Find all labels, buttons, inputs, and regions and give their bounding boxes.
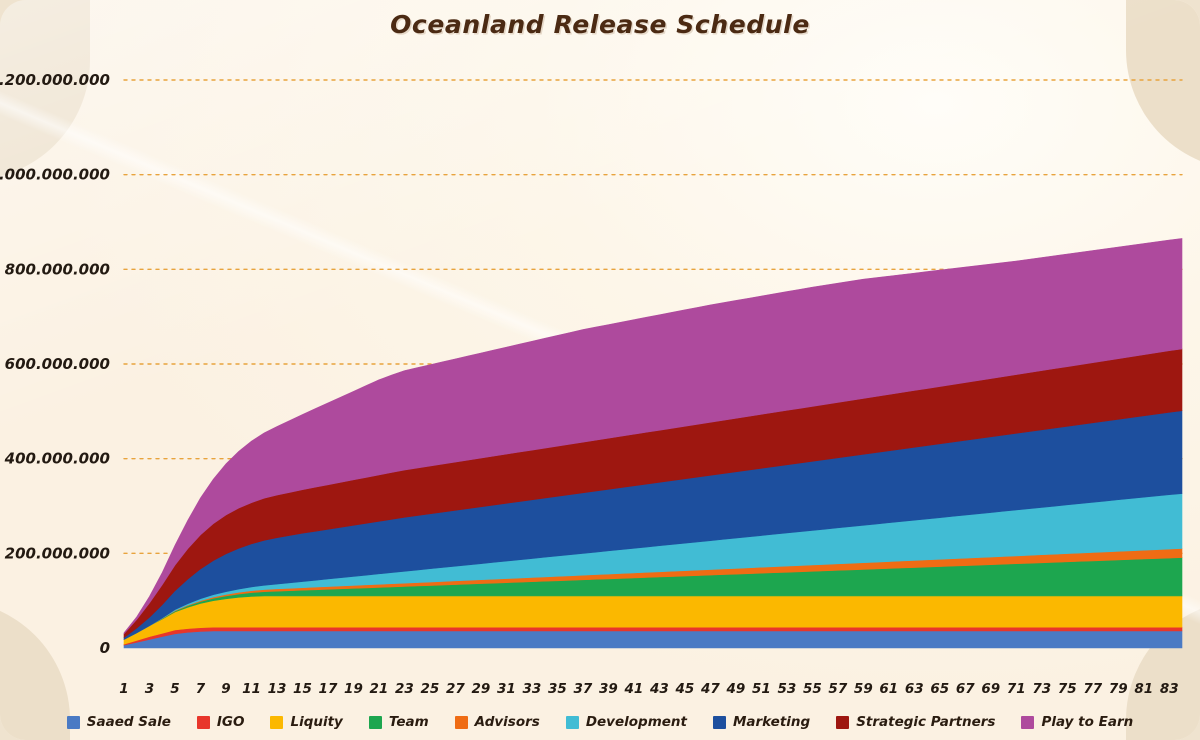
x-axis-tick-label: 83 bbox=[1160, 681, 1179, 697]
legend-item[interactable]: Marketing bbox=[713, 714, 810, 730]
legend-item[interactable]: IGO bbox=[197, 714, 245, 730]
x-axis-tick-label: 57 bbox=[828, 681, 847, 697]
x-axis-tick-label: 41 bbox=[623, 681, 643, 697]
x-axis-tick-label: 11 bbox=[242, 681, 261, 697]
legend-item-label: Play to Earn bbox=[1041, 714, 1133, 730]
x-axis-tick-label: 53 bbox=[777, 681, 796, 697]
legend-item[interactable]: Liquity bbox=[270, 714, 342, 730]
y-axis-tick-label: 400.000.000 bbox=[4, 450, 110, 468]
x-axis-tick-labels: 1357911131517192123252729313335373941434… bbox=[119, 681, 1178, 697]
legend-item-label: Marketing bbox=[733, 714, 810, 730]
x-axis-tick-label: 71 bbox=[1007, 681, 1026, 697]
y-axis-tick-label: 200.000.000 bbox=[5, 544, 110, 562]
y-axis-tick-label: 1.200.000.000 bbox=[0, 71, 110, 89]
chart-legend: Saaed SaleIGOLiquityTeamAdvisorsDevelopm… bbox=[0, 714, 1200, 734]
x-axis-tick-label: 1 bbox=[119, 681, 128, 697]
x-axis-tick-label: 23 bbox=[395, 681, 414, 697]
x-axis-tick-label: 9 bbox=[221, 681, 230, 697]
legend-swatch-icon bbox=[566, 716, 579, 729]
x-axis-tick-label: 33 bbox=[523, 681, 542, 697]
x-axis-tick-label: 29 bbox=[472, 681, 491, 697]
legend-swatch-icon bbox=[455, 716, 468, 729]
x-axis-tick-label: 5 bbox=[170, 681, 179, 697]
x-axis-tick-label: 21 bbox=[370, 681, 389, 697]
x-axis-tick-label: 59 bbox=[854, 681, 873, 697]
x-axis-tick-label: 61 bbox=[879, 681, 898, 697]
legend-swatch-icon bbox=[270, 716, 283, 729]
area-series-layer bbox=[124, 238, 1182, 648]
x-axis-tick-label: 31 bbox=[497, 681, 516, 697]
legend-item-label: Strategic Partners bbox=[856, 714, 995, 730]
legend-swatch-icon bbox=[1021, 716, 1034, 729]
x-axis-tick-label: 79 bbox=[1109, 681, 1128, 697]
chart-panel: Oceanland Release Schedule 0200.000.0004… bbox=[0, 0, 1200, 740]
x-axis-tick-label: 69 bbox=[981, 681, 1000, 697]
x-axis-tick-label: 7 bbox=[196, 681, 206, 697]
x-axis-tick-label: 63 bbox=[905, 681, 924, 697]
x-axis-tick-label: 19 bbox=[344, 681, 363, 697]
y-axis-tick-label: 800.000.000 bbox=[5, 260, 110, 278]
y-axis-tick-label: 1.000.000.000 bbox=[0, 166, 110, 184]
x-axis-tick-label: 37 bbox=[573, 681, 592, 697]
x-axis-tick-label: 77 bbox=[1083, 681, 1102, 697]
legend-item[interactable]: Team bbox=[369, 714, 429, 730]
x-axis-tick-label: 25 bbox=[421, 681, 440, 697]
legend-item-label: Development bbox=[586, 714, 687, 730]
x-axis-tick-label: 75 bbox=[1058, 681, 1077, 697]
legend-item[interactable]: Strategic Partners bbox=[836, 714, 995, 730]
legend-swatch-icon bbox=[67, 716, 80, 729]
legend-item-label: Advisors bbox=[475, 714, 540, 730]
legend-item-label: IGO bbox=[217, 714, 245, 730]
x-axis-tick-label: 39 bbox=[599, 681, 618, 697]
legend-item-label: Liquity bbox=[290, 714, 342, 730]
legend-swatch-icon bbox=[836, 716, 849, 729]
x-axis-tick-label: 27 bbox=[446, 681, 465, 697]
y-axis-tick-labels: 0200.000.000400.000.000600.000.000800.00… bbox=[0, 71, 110, 657]
chart-svg: 0200.000.000400.000.000600.000.000800.00… bbox=[0, 0, 1200, 740]
x-axis-tick-label: 43 bbox=[649, 681, 669, 697]
area-series bbox=[124, 631, 1182, 648]
legend-item-label: Team bbox=[389, 714, 429, 730]
legend-item[interactable]: Advisors bbox=[455, 714, 540, 730]
legend-item-label: Saaed Sale bbox=[87, 714, 171, 730]
x-axis-tick-label: 67 bbox=[956, 681, 975, 697]
x-axis-tick-label: 65 bbox=[930, 681, 949, 697]
y-axis-tick-label: 0 bbox=[100, 639, 110, 657]
x-axis-tick-label: 81 bbox=[1134, 681, 1153, 697]
legend-item[interactable]: Play to Earn bbox=[1021, 714, 1133, 730]
y-axis-tick-label: 600.000.000 bbox=[5, 355, 110, 373]
x-axis-tick-label: 49 bbox=[725, 681, 745, 697]
x-axis-tick-label: 55 bbox=[803, 681, 822, 697]
legend-item[interactable]: Saaed Sale bbox=[67, 714, 171, 730]
legend-swatch-icon bbox=[197, 716, 210, 729]
legend-swatch-icon bbox=[713, 716, 726, 729]
x-axis-tick-label: 3 bbox=[145, 681, 154, 697]
x-axis-tick-label: 17 bbox=[319, 681, 338, 697]
x-axis-tick-label: 73 bbox=[1032, 681, 1051, 697]
x-axis-tick-label: 47 bbox=[700, 681, 720, 697]
stacked-area-chart: 0200.000.000400.000.000600.000.000800.00… bbox=[0, 0, 1200, 740]
x-axis-tick-label: 35 bbox=[548, 681, 567, 697]
legend-swatch-icon bbox=[369, 716, 382, 729]
x-axis-tick-label: 15 bbox=[293, 681, 312, 697]
x-axis-tick-label: 13 bbox=[268, 681, 287, 697]
legend-item[interactable]: Development bbox=[566, 714, 687, 730]
x-axis-tick-label: 51 bbox=[752, 681, 771, 697]
x-axis-tick-label: 45 bbox=[674, 681, 694, 697]
